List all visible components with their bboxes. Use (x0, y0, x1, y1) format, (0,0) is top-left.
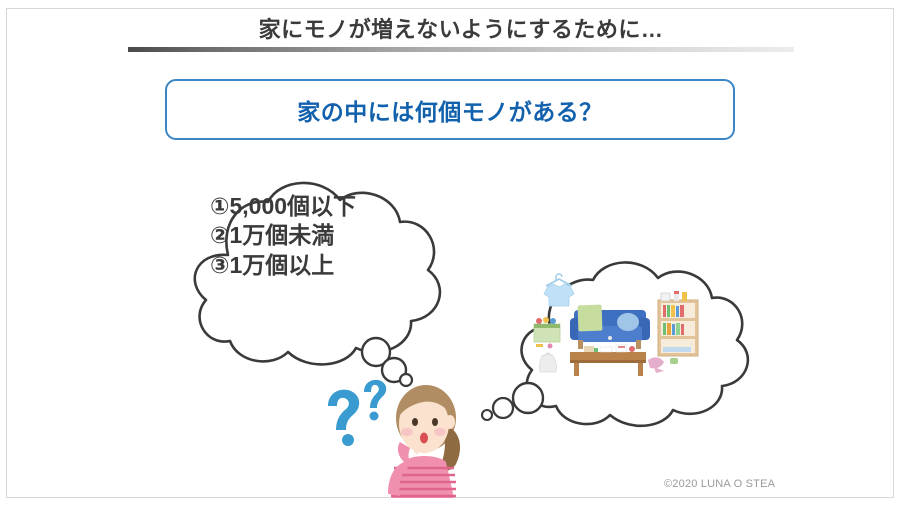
title-underline-bar (128, 47, 794, 52)
page-title-text: 家にモノが増えないようにするために… (128, 16, 794, 44)
list-item: ②1万個未満 (210, 221, 450, 250)
options-list: ①5,000個以下 ②1万個未満 ③1万個以上 (210, 192, 450, 280)
white-bag-icon (539, 353, 556, 372)
hanging-shirt-icon (544, 274, 574, 306)
messy-room-illustration (530, 272, 705, 382)
thinking-woman-illustration (318, 378, 488, 498)
person-scene (318, 378, 488, 503)
bookshelf-icon (658, 291, 698, 356)
page-title: 家にモノが増えないようにするために… (128, 16, 794, 44)
toy-box-icon (534, 317, 560, 349)
right-cloud-tail-shape (478, 384, 548, 429)
question-mark-icon-large (328, 390, 359, 446)
slide-canvas: 家にモノが増えないようにするために… 家の中には何個モノがある？ ①5,000個… (0, 0, 900, 506)
question-text: 家の中には何個モノがある？ (297, 93, 603, 127)
room-scene (530, 272, 705, 382)
copyright-text: ©2020 LUNA O STEA (664, 478, 775, 490)
question-box: 家の中には何個モノがある？ (165, 79, 735, 140)
right-cloud-tail-bubbles (478, 384, 548, 429)
sofa-icon (570, 305, 650, 349)
question-mark-icon-small (364, 380, 386, 421)
list-item: ①5,000個以下 (210, 192, 450, 221)
list-item: ③1万個以上 (210, 251, 450, 280)
wooden-table-icon (570, 345, 646, 376)
